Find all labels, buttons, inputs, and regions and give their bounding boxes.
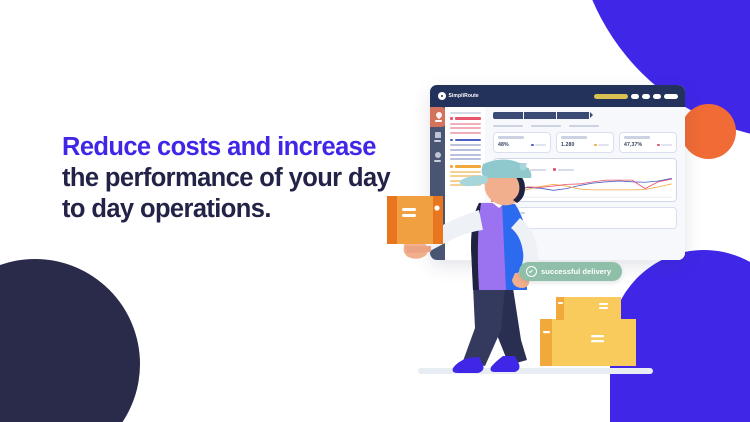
- status-badge-label: successful delivery: [541, 267, 611, 276]
- sidebar-item-fleet[interactable]: [430, 127, 445, 147]
- sidebar-item-label: [434, 140, 441, 142]
- list-item[interactable]: [450, 154, 481, 156]
- breadcrumb-step-1[interactable]: [493, 112, 523, 119]
- truck-icon: [435, 132, 441, 138]
- kpi-label: [498, 136, 524, 138]
- breadcrumb-step-3[interactable]: [557, 112, 589, 119]
- kpi-trend: [657, 144, 672, 147]
- list-group-blue-header: [450, 139, 481, 142]
- topbar-nav-item-2[interactable]: [642, 94, 650, 99]
- orange-circle-decoration: [681, 104, 736, 159]
- carried-box: [387, 196, 443, 244]
- kpi-label: [561, 136, 587, 138]
- headline-line-3: to day operations.: [62, 194, 422, 225]
- topbar-nav-item-4[interactable]: [664, 94, 678, 99]
- pie-chart-icon: [435, 152, 441, 158]
- list-item[interactable]: [450, 123, 481, 125]
- breadcrumb-step-2[interactable]: [524, 112, 556, 119]
- list-item[interactable]: [450, 132, 481, 134]
- tab-routes[interactable]: [531, 125, 561, 127]
- route-pin-icon: [438, 92, 446, 100]
- list-item[interactable]: [450, 144, 481, 146]
- kpi-trend: [594, 144, 609, 147]
- courier-back-shoe: [491, 356, 520, 372]
- kpi-trend: [531, 144, 546, 147]
- app-logo-text: SimpliRoute: [449, 93, 479, 99]
- tab-drivers[interactable]: [569, 125, 599, 127]
- list-item[interactable]: [450, 149, 481, 151]
- tab-bar: [493, 125, 677, 127]
- kpi-value: 48%: [498, 142, 509, 148]
- list-group-red-header: [450, 117, 481, 120]
- list-group-header: [450, 112, 481, 114]
- courier-fingers: [405, 246, 431, 253]
- kpi-value: 1.280: [561, 142, 574, 148]
- list-item[interactable]: [450, 127, 481, 129]
- status-dot-blue: [450, 139, 453, 142]
- slide-canvas: Reduce costs and increase the performanc…: [0, 0, 750, 422]
- kpi-value: 47,37%: [624, 142, 642, 148]
- courier-front-leg: [463, 286, 505, 366]
- navy-circle-bottom-left: [0, 259, 140, 422]
- breadcrumb: [493, 112, 677, 119]
- kpi-card[interactable]: 47,37%: [619, 132, 677, 153]
- courier-cap-brim: [460, 176, 488, 187]
- trend-dot-icon: [657, 144, 660, 147]
- headline-line-2: the performance of your day: [62, 163, 422, 194]
- topbar-nav-item-1[interactable]: [631, 94, 639, 99]
- tab-overview[interactable]: [493, 125, 523, 127]
- check-circle-icon: [526, 266, 537, 277]
- topbar-nav-item-3[interactable]: [653, 94, 661, 99]
- headline: Reduce costs and increase the performanc…: [62, 132, 422, 225]
- trend-dot-icon: [594, 144, 597, 147]
- trend-dot-icon: [531, 144, 534, 147]
- kpi-card[interactable]: 48%: [493, 132, 551, 153]
- dashboard-topbar: SimpliRoute: [430, 85, 685, 107]
- sidebar-item-label: [435, 120, 442, 122]
- kpi-label: [624, 136, 650, 138]
- stacked-boxes: [540, 297, 636, 366]
- kpi-card[interactable]: 1.280: [556, 132, 614, 153]
- app-logo[interactable]: SimpliRoute: [438, 92, 479, 100]
- status-badge: successful delivery: [519, 262, 622, 281]
- map-pin-icon: [434, 111, 442, 119]
- topbar-progress-pill: [594, 94, 628, 99]
- courier-front-shoe: [453, 357, 484, 373]
- kpi-row: 48% 1.280: [493, 132, 677, 153]
- status-dot-red: [450, 117, 453, 120]
- headline-accent-line: Reduce costs and increase: [62, 132, 422, 163]
- courier-cap-button: [520, 164, 527, 171]
- topbar-nav: [594, 94, 678, 99]
